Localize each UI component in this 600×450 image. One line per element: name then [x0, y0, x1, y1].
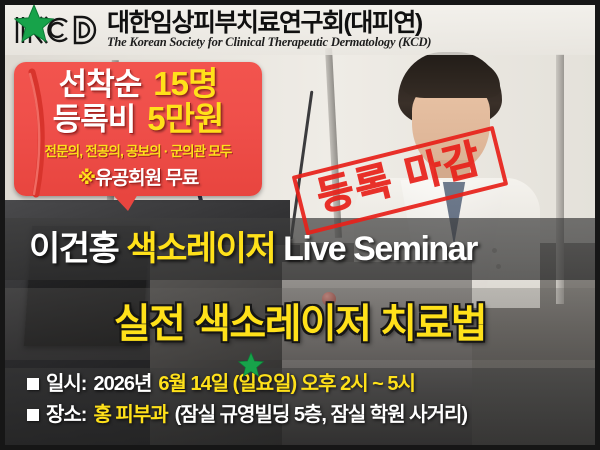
seminar-topic: 색소레이저	[126, 230, 275, 268]
seminar-format: Live Seminar	[283, 230, 477, 268]
registration-promo-box: 선착순 15명 등록비 5만원 전문의, 전공의, 공보의 · 군의관 모두 ※…	[14, 62, 262, 196]
venue-name: 홍 피부과	[93, 405, 167, 425]
seminar-subtitle-band: 실전 색소레이저 치료법	[5, 288, 595, 360]
society-header: 대한임상피부치료연구회(대피연) The Korean Society for …	[5, 5, 595, 55]
square-bullet-icon	[27, 409, 39, 421]
info-row-venue: 장소: 홍 피부과 (잠실 규영빌딩 5층, 잠실 학원 사거리)	[27, 405, 595, 425]
date-value: 6월 14일 (일요일) 오후 2시 ~ 5시	[158, 374, 415, 394]
seminar-title-band: 이건홍 색소레이저 Live Seminar	[5, 218, 595, 280]
society-name-en: The Korean Society for Clinical Therapeu…	[107, 36, 431, 50]
promo-row-fee: 등록비 5만원	[14, 102, 262, 135]
promo-fee-label: 등록비	[53, 104, 136, 135]
promo-capacity-value: 15명	[153, 67, 217, 100]
seminar-title-line1: 이건홍 색소레이저 Live Seminar	[29, 232, 477, 266]
speaker-name: 이건홍	[29, 230, 118, 268]
promo-fee-value: 5만원	[147, 102, 223, 135]
society-name-block: 대한임상피부치료연구회(대피연) The Korean Society for …	[107, 10, 431, 50]
venue-label: 장소:	[46, 405, 86, 425]
venue-address: (잠실 규영빌딩 5층, 잠실 학원 사거리)	[175, 405, 467, 425]
green-star-icon	[238, 352, 264, 378]
info-row-date: 일시: 2026년 6월 14일 (일요일) 오후 2시 ~ 5시	[27, 374, 595, 394]
green-star-icon	[14, 4, 54, 44]
promo-eligibility-note: 전문의, 전공의, 공보의 · 군의관 모두	[14, 140, 262, 160]
date-year: 2026년	[93, 374, 151, 394]
promo-capacity-label: 선착순	[59, 69, 142, 100]
seminar-poster: 대한임상피부치료연구회(대피연) The Korean Society for …	[0, 0, 600, 450]
square-bullet-icon	[27, 378, 39, 390]
seminar-subtitle: 실전 색소레이저 치료법	[114, 304, 486, 344]
promo-note-mark-icon: ※	[78, 168, 95, 189]
seminar-info-band: 일시: 2026년 6월 14일 (일요일) 오후 2시 ~ 5시 장소: 홍 …	[5, 368, 595, 445]
promo-row-capacity: 선착순 15명	[14, 67, 262, 100]
promo-free-note-text: 유공회원 무료	[95, 168, 198, 189]
promo-free-note: ※유공회원 무료	[14, 163, 262, 190]
society-name-ko: 대한임상피부치료연구회(대피연)	[107, 10, 431, 36]
doctor-fringe	[402, 58, 500, 98]
date-label: 일시:	[46, 374, 86, 394]
